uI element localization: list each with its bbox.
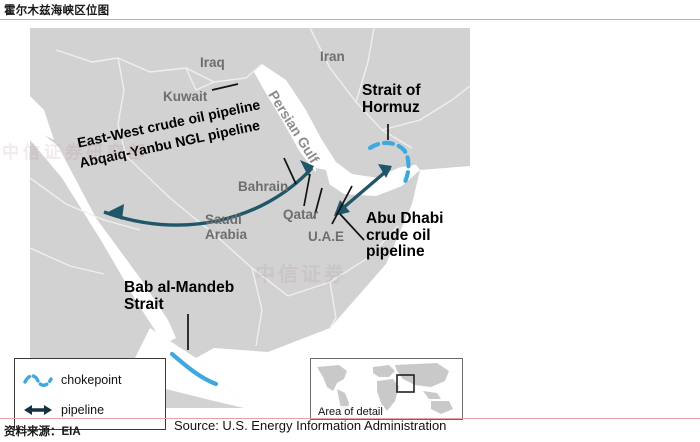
map-graphic: [0, 28, 700, 410]
map-legend: chokepoint pipeline: [14, 358, 166, 430]
figure-source-note: 资料来源：EIA: [4, 423, 81, 439]
map-label-bab-al-mandeb-strait: Bab al-Mandeb Strait: [124, 280, 264, 313]
map-container: Iraq Iran Kuwait Bahrain Qatar U.A.E Sau…: [0, 28, 700, 410]
map-label-uae: U.A.E: [308, 230, 344, 245]
map-label-iran: Iran: [320, 50, 345, 65]
map-label-bahrain: Bahrain: [238, 180, 288, 195]
map-source-credit: Source: U.S. Energy Information Administ…: [174, 418, 446, 433]
map-label-kuwait: Kuwait: [163, 90, 207, 105]
map-label-abu-dhabi-pipeline: Abu Dhabi crude oil pipeline: [366, 211, 476, 261]
map-label-iraq: Iraq: [200, 56, 225, 71]
inset-label: Area of detail: [317, 406, 384, 418]
map-label-strait-of-hormuz: Strait of Hormuz: [362, 83, 458, 116]
chokepoint-swatch: [15, 371, 61, 389]
legend-label-pipeline: pipeline: [61, 403, 104, 417]
title-divider-top: [0, 19, 700, 20]
legend-item-pipeline: pipeline: [15, 395, 167, 425]
title-divider-bottom: [0, 418, 700, 419]
legend-item-chokepoint: chokepoint: [15, 365, 167, 395]
map-label-qatar: Qatar: [283, 208, 318, 223]
legend-label-chokepoint: chokepoint: [61, 373, 121, 387]
figure-title: 霍尔木兹海峡区位图: [4, 2, 109, 18]
map-label-saudi-arabia: Saudi Arabia: [205, 213, 275, 242]
pipeline-swatch: [15, 401, 61, 419]
inset-locator-map: Area of detail: [310, 358, 463, 420]
